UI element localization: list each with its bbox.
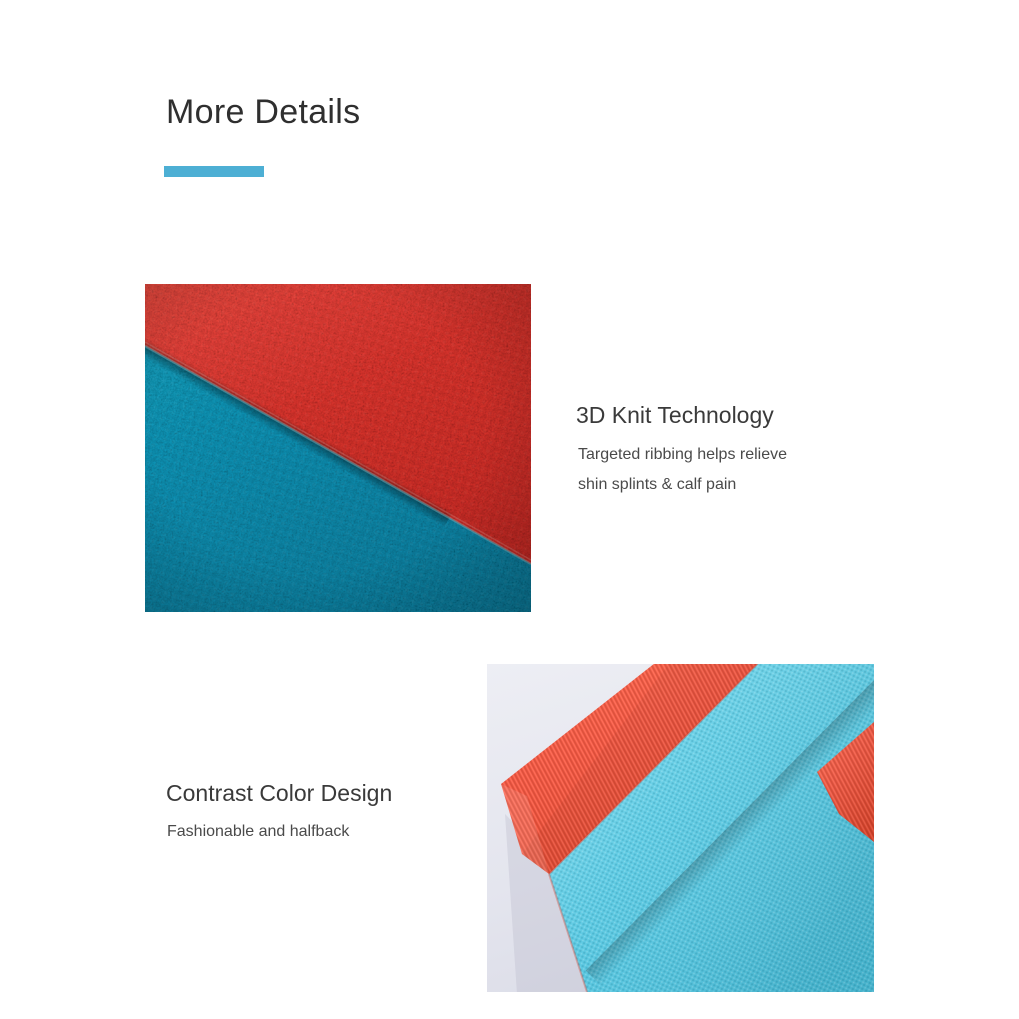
product-details-page: More Details [0, 0, 1019, 1019]
feature-title-contrast-color-design: Contrast Color Design [166, 780, 392, 808]
sock-cuff-photo [487, 664, 874, 992]
feature-description-contrast-line-1: Fashionable and halfback [167, 822, 349, 841]
heading-accent-bar [164, 166, 264, 177]
knit-fabric-macro-photo [145, 284, 531, 612]
page-title: More Details [166, 94, 360, 131]
feature-description-knit-line-1: Targeted ribbing helps relieve [578, 445, 787, 464]
feature-description-knit-line-2: shin splints & calf pain [578, 475, 736, 494]
feature-title-knit-technology: 3D Knit Technology [576, 402, 774, 430]
